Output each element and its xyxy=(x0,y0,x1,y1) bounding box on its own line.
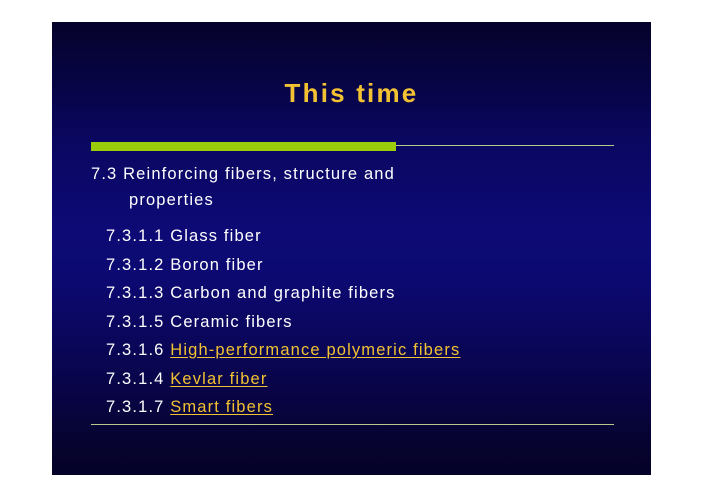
outline-item: 7.3.1.3 Carbon and graphite fibers xyxy=(106,285,396,302)
outline-heading-line-1: 7.3 Reinforcing fibers, structure and xyxy=(91,166,599,183)
outline-item[interactable]: 7.3.1.6 High-performance polymeric fiber… xyxy=(106,342,460,359)
outline-heading: 7.3 Reinforcing fibers, structure and pr… xyxy=(91,166,599,208)
bottom-divider xyxy=(91,424,614,425)
title-divider-accent-bar xyxy=(91,142,396,151)
outline-item-link[interactable]: Kevlar fiber xyxy=(170,370,267,388)
slide-page: This time 7.3 Reinforcing fibers, struct… xyxy=(0,0,702,496)
outline-item-label: Glass fiber xyxy=(170,227,262,245)
outline-heading-line-2: properties xyxy=(129,192,599,209)
outline-item[interactable]: 7.3.1.4 Kevlar fiber xyxy=(106,371,268,388)
outline-item-link[interactable]: Smart fibers xyxy=(170,398,273,416)
outline-item: 7.3.1.2 Boron fiber xyxy=(106,257,264,274)
outline-item-number: 7.3.1.2 xyxy=(106,256,165,274)
outline-item-number: 7.3.1.1 xyxy=(106,227,165,245)
presentation-slide: This time 7.3 Reinforcing fibers, struct… xyxy=(52,22,651,475)
outline-item-number: 7.3.1.7 xyxy=(106,398,165,416)
outline-item-link[interactable]: High-performance polymeric fibers xyxy=(170,341,460,359)
outline-item-number: 7.3.1.6 xyxy=(106,341,165,359)
outline-item-label: Ceramic fibers xyxy=(170,313,292,331)
outline-item-label: Boron fiber xyxy=(170,256,263,274)
outline-item-number: 7.3.1.5 xyxy=(106,313,165,331)
outline-item: 7.3.1.5 Ceramic fibers xyxy=(106,314,293,331)
outline-item-number: 7.3.1.4 xyxy=(106,370,165,388)
slide-title: This time xyxy=(52,80,651,106)
outline-item[interactable]: 7.3.1.7 Smart fibers xyxy=(106,399,273,416)
outline-item-number: 7.3.1.3 xyxy=(106,284,165,302)
outline-item: 7.3.1.1 Glass fiber xyxy=(106,228,262,245)
title-divider xyxy=(91,142,614,151)
outline-item-label: Carbon and graphite fibers xyxy=(170,284,395,302)
